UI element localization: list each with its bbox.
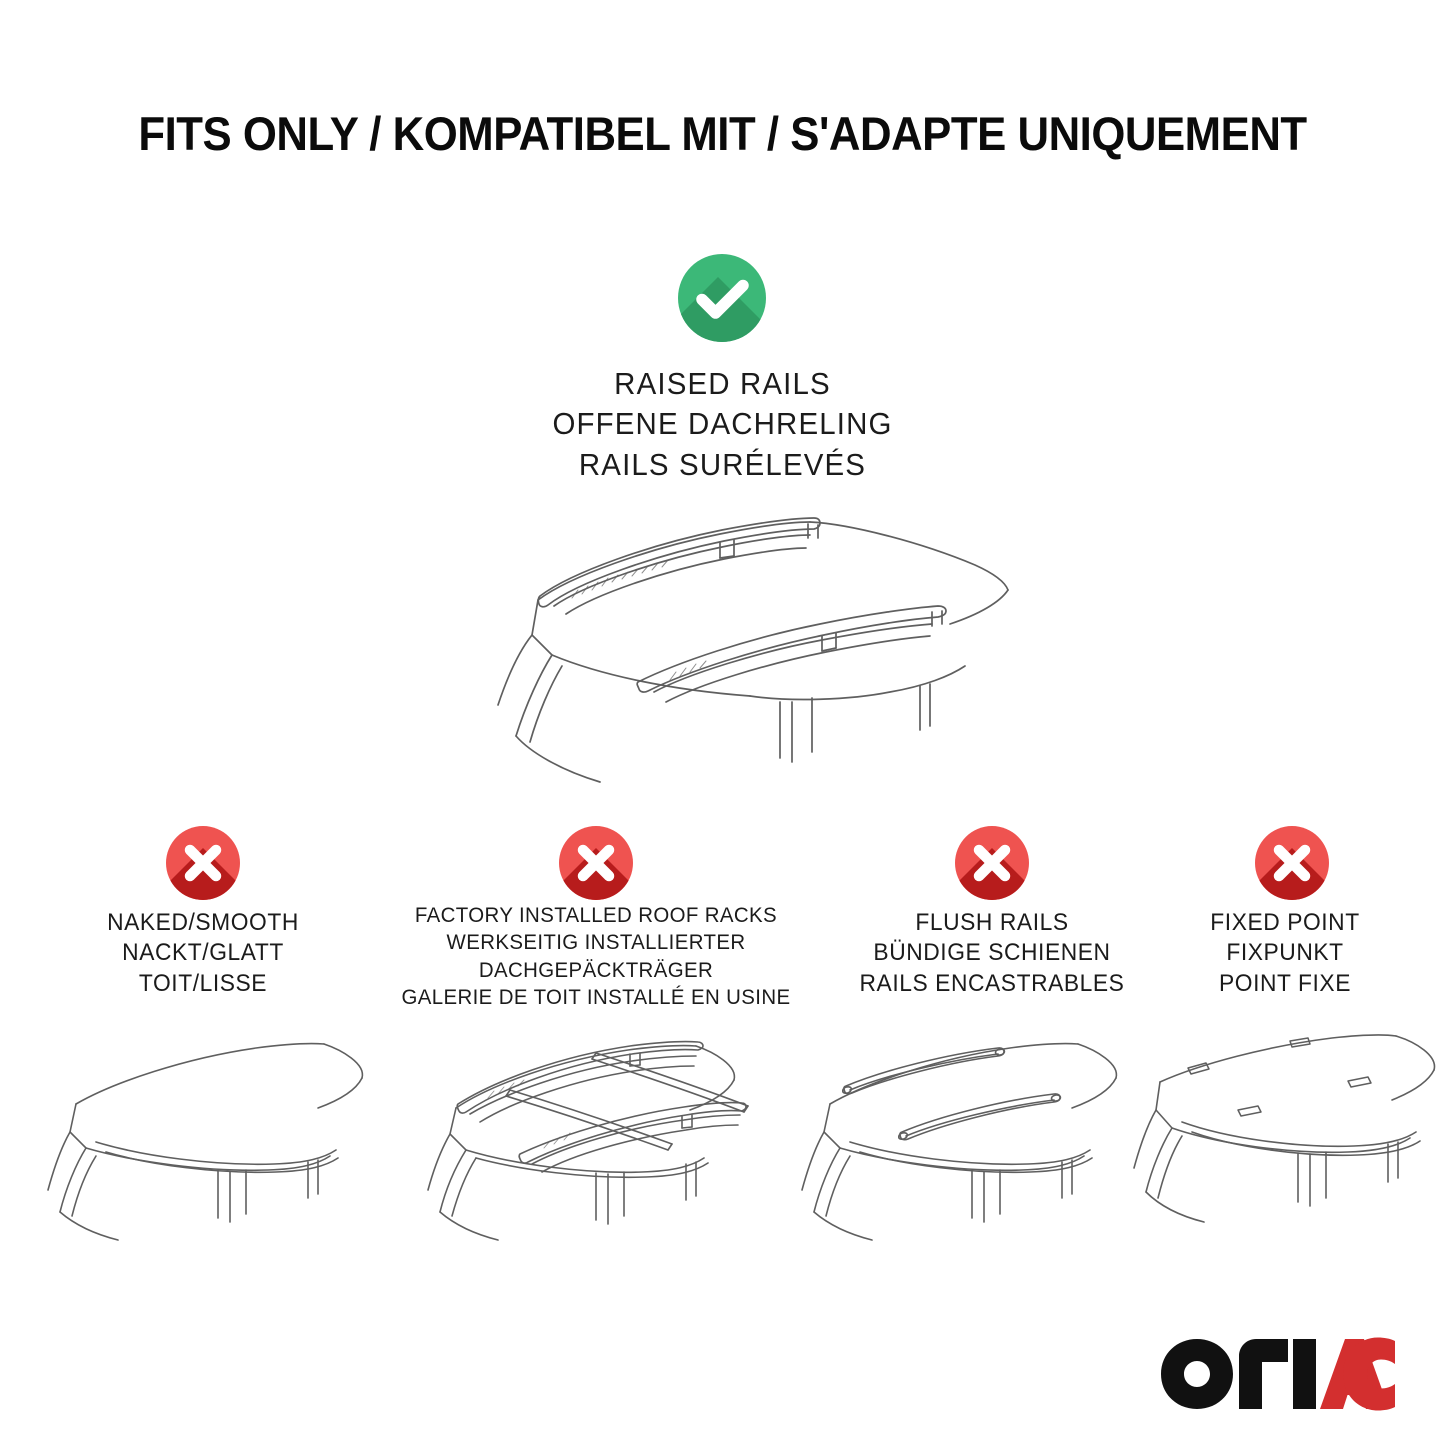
incompatible-1-line-de-1: WERKSEITIG INSTALLIERTER [383, 929, 809, 956]
cross-circle-icon [166, 826, 240, 900]
incompatible-caption-3: FIXED POINT FIXPUNKT POINT FIXE [1138, 908, 1433, 999]
logo-letter-m [1239, 1339, 1316, 1409]
incompatible-2-line-fr: RAILS ENCASTRABLES [827, 969, 1158, 999]
compatible-line-de: OFFENE DACHRELING [36, 404, 1409, 444]
incompatible-0-line-de: NACKT/GLATT [39, 938, 368, 968]
compatibility-chart-page: FITS ONLY / KOMPATIBEL MIT / S'ADAPTE UN… [0, 0, 1445, 1445]
compatible-line-en: RAISED RAILS [36, 364, 1409, 404]
incompatible-1-line-fr: GALERIE DE TOIT INSTALLÉ EN USINE [383, 984, 809, 1011]
incompatible-3-line-en: FIXED POINT [1138, 908, 1433, 938]
cross-circle-icon [1255, 826, 1329, 900]
car-roof-naked-smooth-illustration [18, 1012, 388, 1252]
incompatible-status-icon-1 [559, 826, 633, 900]
page-title: FITS ONLY / KOMPATIBEL MIT / S'ADAPTE UN… [51, 106, 1395, 161]
incompatible-status-icon-2 [955, 826, 1029, 900]
incompatible-caption-2: FLUSH RAILS BÜNDIGE SCHIENEN RAILS ENCAS… [827, 908, 1158, 999]
cross-circle-icon [955, 826, 1029, 900]
incompatible-status-icon-0 [166, 826, 240, 900]
incompatible-3-line-de: FIXPUNKT [1138, 938, 1433, 968]
incompatible-3-line-fr: POINT FIXE [1138, 969, 1433, 999]
incompatible-1-line-de-2: DACHGEPÄCKTRÄGER [383, 957, 809, 984]
incompatible-2-line-de: BÜNDIGE SCHIENEN [827, 938, 1158, 968]
logo-letter-o [1161, 1339, 1233, 1409]
incompatible-0-line-en: NAKED/SMOOTH [39, 908, 368, 938]
car-roof-factory-racks-illustration [392, 1012, 762, 1252]
incompatible-1-line-en: FACTORY INSTALLED ROOF RACKS [383, 902, 809, 929]
compatible-line-fr: RAILS SURÉLEVÉS [36, 445, 1409, 485]
compatible-caption: RAISED RAILS OFFENE DACHRELING RAILS SUR… [36, 364, 1409, 485]
incompatible-0-line-fr: TOIT/LISSE [39, 969, 368, 999]
check-circle-icon [678, 254, 766, 342]
compatible-status-icon [678, 254, 766, 342]
incompatible-caption-0: NAKED/SMOOTH NACKT/GLATT TOIT/LISSE [39, 908, 368, 999]
car-roof-raised-rails-illustration [420, 490, 1020, 790]
car-roof-fixed-point-illustration [1120, 1012, 1445, 1252]
omac-logo [1161, 1337, 1401, 1411]
cross-circle-icon [559, 826, 633, 900]
car-roof-flush-rails-illustration [772, 1012, 1142, 1252]
incompatible-caption-1: FACTORY INSTALLED ROOF RACKS WERKSEITIG … [383, 902, 809, 1011]
incompatible-2-line-en: FLUSH RAILS [827, 908, 1158, 938]
incompatible-status-icon-3 [1255, 826, 1329, 900]
